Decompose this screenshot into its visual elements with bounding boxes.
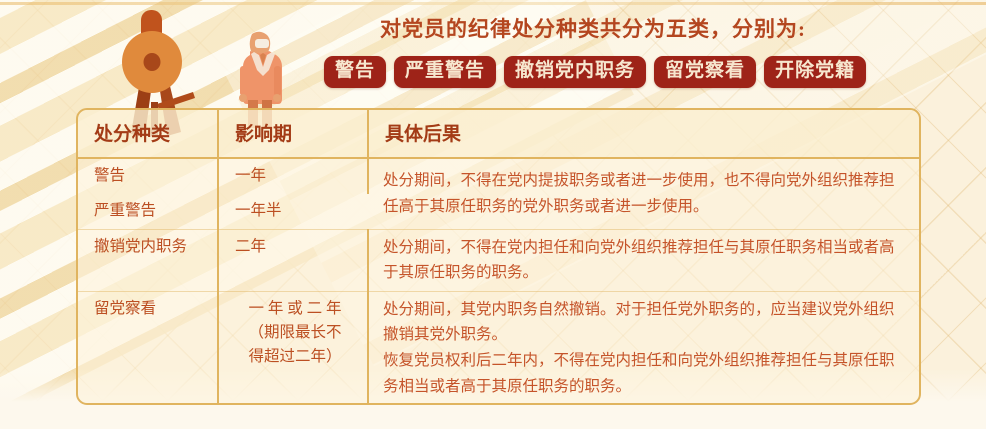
cell-consequence-warning: 处分期间，不得在党内提拔职务或者进一步使用，也不得向党外组织推荐担任高于其原任职… [368, 158, 919, 230]
consequence-paragraph: 处分期间，其党内职务自然撤销。对于担任党外职务的，应当建议党外组织撤销其党外职务… [383, 297, 907, 347]
badge-probation[interactable]: 留党察看 [654, 56, 756, 89]
infographic-root: 对党员的纪律处分种类共分为五类，分别为: 警告 严重警告 撤销党内职务 留党察看… [0, 0, 986, 429]
cell-period-remove-post: 二年 [218, 230, 368, 292]
cell-type-probation: 留党察看 [78, 292, 218, 405]
consequence-paragraph: 恢复党员权利后二年内，不得在党内担任和向党外组织推荐担任与其原任职务相当或者高于… [383, 348, 907, 398]
cell-period-probation: 一 年 或 二 年 （期限最长不 得超过二年） [218, 292, 368, 405]
cell-period-serious-warning: 一年半 [218, 194, 368, 230]
cell-consequence-probation: 处分期间，其党内职务自然撤销。对于担任党外职务的，应当建议党外组织撤销其党外职务… [368, 292, 919, 405]
badge-warning[interactable]: 警告 [324, 56, 386, 89]
discipline-table: 处分种类 影响期 具体后果 警告 一年 处分期间，不得在党内提拔职务或者进一步使… [76, 108, 921, 405]
column-header-period: 影响期 [218, 110, 368, 158]
table-row: 撤销党内职务 二年 处分期间，不得在党内担任和向党外组织推荐担任与其原任职务相当… [78, 230, 919, 292]
column-header-type: 处分种类 [78, 110, 218, 158]
table-row: 留党察看 一 年 或 二 年 （期限最长不 得超过二年） 处分期间，其党内职务自… [78, 292, 919, 405]
page-title: 对党员的纪律处分种类共分为五类，分别为: [380, 13, 960, 43]
table-row: 警告 一年 处分期间，不得在党内提拔职务或者进一步使用，也不得向党外组织推荐担任… [78, 158, 919, 194]
cell-type-warning: 警告 [78, 158, 218, 194]
table-header-row: 处分种类 影响期 具体后果 [78, 110, 919, 158]
cell-period-warning: 一年 [218, 158, 368, 194]
badge-remove-party-post[interactable]: 撤销党内职务 [504, 56, 646, 89]
top-gold-line [0, 2, 986, 5]
cell-type-serious-warning: 严重警告 [78, 194, 218, 230]
discipline-badge-list: 警告 严重警告 撤销党内职务 留党察看 开除党籍 [324, 52, 924, 92]
cell-consequence-remove-post: 处分期间，不得在党内担任和向党外组织推荐担任与其原任职务相当或者高于其原任职务的… [368, 230, 919, 292]
column-header-consequence: 具体后果 [368, 110, 919, 158]
badge-serious-warning[interactable]: 严重警告 [394, 56, 496, 89]
cell-type-remove-post: 撤销党内职务 [78, 230, 218, 292]
badge-expulsion[interactable]: 开除党籍 [764, 56, 866, 89]
